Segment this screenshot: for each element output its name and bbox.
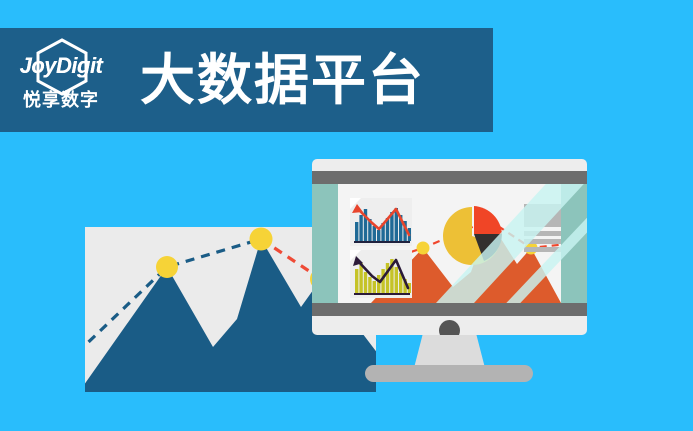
- axis-line: [354, 241, 410, 243]
- axis-line: [354, 293, 410, 295]
- data-point-marker: [250, 228, 273, 251]
- three-slice-pie-chart: [441, 205, 503, 267]
- logo-subtitle: 悦享数字: [23, 91, 99, 109]
- page-title: 大数据平台: [140, 53, 425, 108]
- desktop-monitor: [312, 159, 587, 335]
- data-point-marker: [417, 242, 430, 255]
- monitor-bottom-bar: [312, 303, 587, 316]
- placeholder-line: [524, 239, 561, 244]
- arrow-head-icon: [352, 204, 363, 213]
- placeholder-line: [524, 247, 561, 252]
- placeholder-heading-block: [524, 204, 561, 227]
- olive-bar-line-mini-chart: [350, 250, 412, 298]
- placeholder-line: [524, 231, 561, 236]
- brand-logo: JoyDigit 悦享数字: [0, 28, 122, 132]
- screen-content-area: [338, 184, 561, 303]
- blue-bar-line-mini-chart: [350, 198, 412, 246]
- logo-wordmark: JoyDigit: [20, 55, 103, 77]
- pie-slice-b: [474, 206, 502, 234]
- illustration-canvas: JoyDigit 悦享数字 大数据平台: [0, 0, 693, 431]
- data-point-marker: [156, 256, 178, 278]
- monitor-top-bar: [312, 171, 587, 184]
- monitor-screen: [312, 184, 587, 303]
- monitor-stand: [414, 335, 485, 368]
- text-placeholder-block: [524, 204, 561, 250]
- header-banner: JoyDigit 悦享数字 大数据平台: [0, 28, 493, 132]
- monitor-base: [365, 365, 533, 382]
